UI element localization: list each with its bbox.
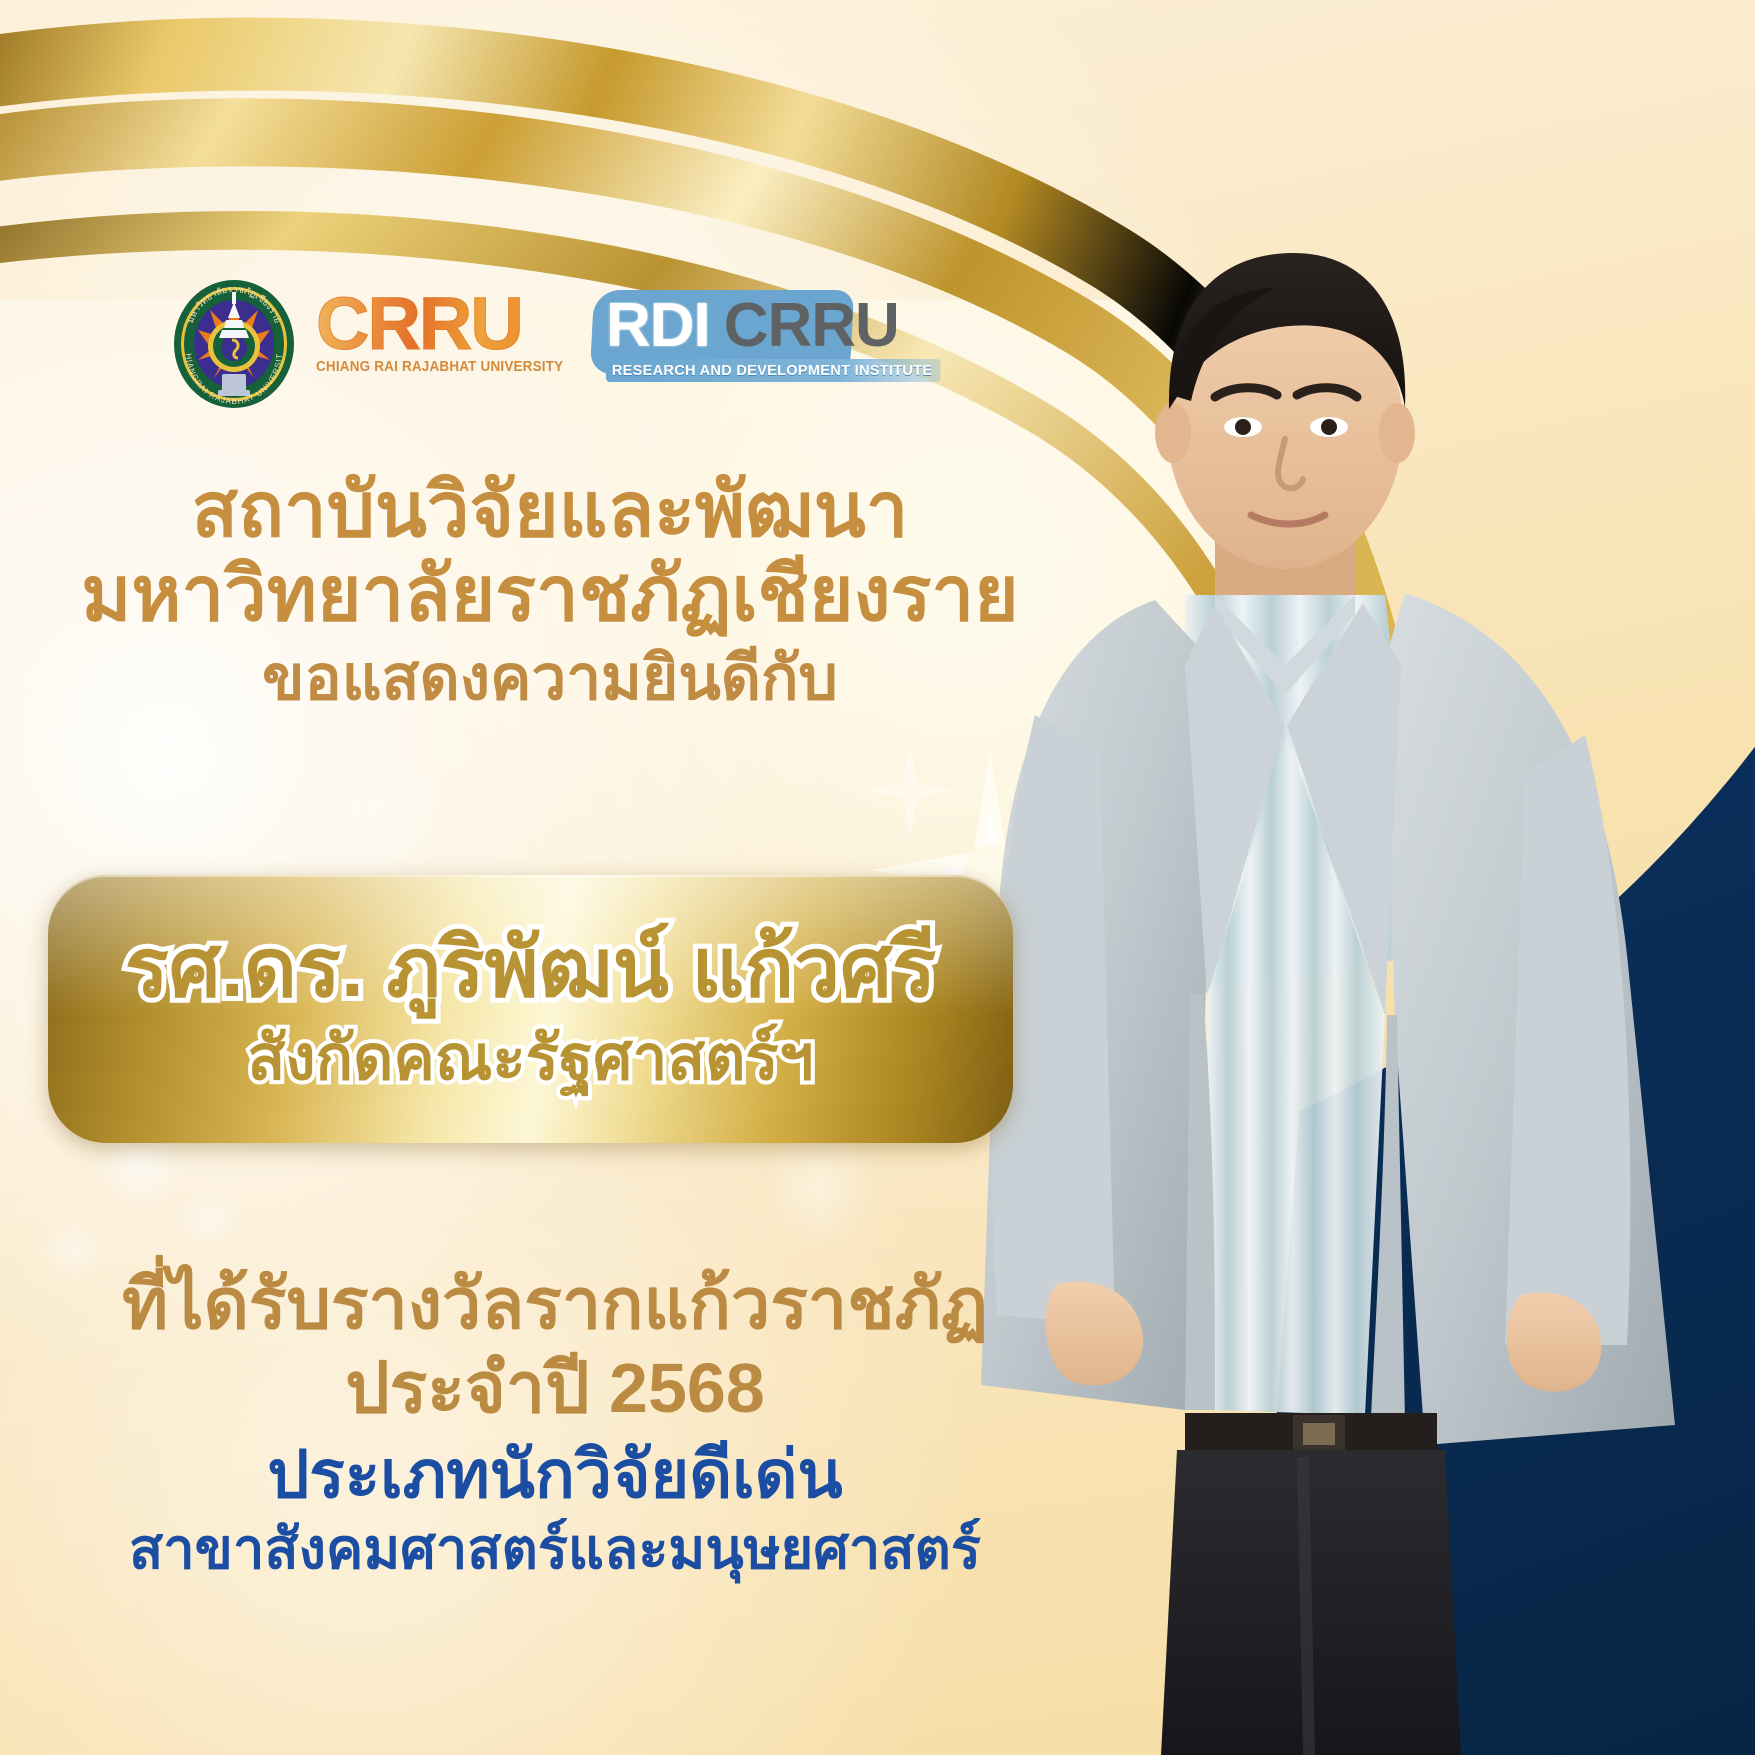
honoree-name: รศ.ดร. ภูริพัฒน์ แก้วศรี [125, 921, 936, 1018]
crru-wordmark: CRRU CHIANG RAI RAJABHAT UNIVERSITY [316, 294, 582, 375]
crru-wordmark-text: CRRU [316, 294, 582, 355]
rdi-tagline: RESEARCH AND DEVELOPMENT INSTITUTE [606, 359, 940, 382]
congratulations-poster: มหาวิทยาลัยราชภัฏเชียงราย CHIANGRAI RAJA… [0, 0, 1755, 1755]
crru-tagline: CHIANG RAI RAJABHAT UNIVERSITY [316, 359, 563, 375]
award-line-2: ประจำปี 2568 [0, 1349, 1110, 1427]
headline-line-1: สถาบันวิจัยและพัฒนา [0, 470, 1100, 552]
rdi-crru-logo: RDI CRRU RESEARCH AND DEVELOPMENT INSTIT… [606, 298, 951, 382]
award-line-3: ประเภทนักวิจัยดีเด่น [0, 1438, 1110, 1512]
university-seal-icon: มหาวิทยาลัยราชภัฏเชียงราย CHIANGRAI RAJA… [170, 278, 298, 410]
headline-line-3: ขอแสดงความยินดีกับ [0, 646, 1100, 713]
honoree-name-banner: รศ.ดร. ภูริพัฒน์ แก้วศรี สังกัดคณะรัฐศาส… [48, 875, 1013, 1143]
honoree-affiliation: สังกัดคณะรัฐศาสตร์ฯ [247, 1022, 813, 1096]
logo-row: มหาวิทยาลัยราชภัฏเชียงราย CHIANGRAI RAJA… [170, 278, 950, 410]
headline-block: สถาบันวิจัยและพัฒนา มหาวิทยาลัยราชภัฏเชี… [0, 470, 1100, 713]
award-block: ที่ได้รับรางวัลรากแก้วราชภัฏ ประจำปี 256… [0, 1265, 1110, 1580]
headline-line-2: มหาวิทยาลัยราชภัฏเชียงราย [0, 554, 1100, 636]
rdi-crru-wordmark-text: CRRU [724, 298, 899, 354]
rdi-wordmark-text: RDI [606, 298, 710, 354]
award-line-4: สาขาสังคมศาสตร์และมนุษยศาสตร์ [0, 1518, 1110, 1581]
award-line-1: ที่ได้รับรางวัลรากแก้วราชภัฏ [0, 1265, 1110, 1343]
